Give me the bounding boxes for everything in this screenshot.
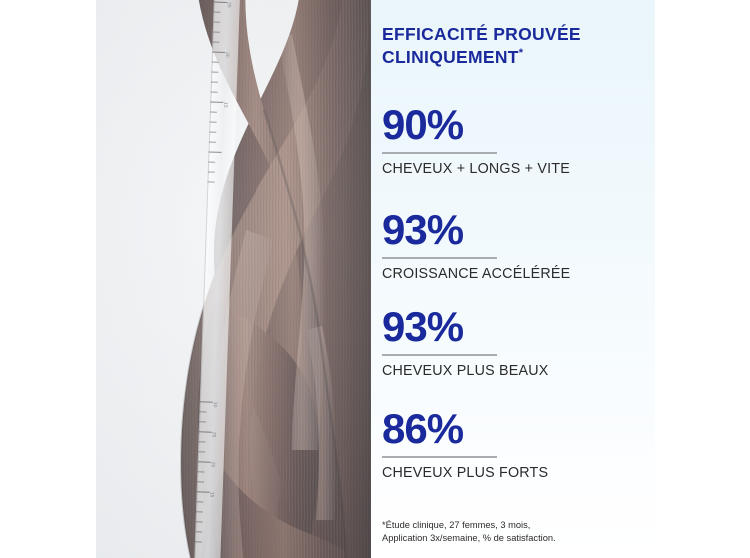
stat-block: 93% CROISSANCE ACCÉLÉRÉE — [382, 209, 632, 283]
stat-value: 93% — [382, 209, 632, 251]
stat-value: 90% — [382, 104, 632, 146]
stat-divider — [382, 257, 497, 259]
stat-block: 93% CHEVEUX PLUS BEAUX — [382, 306, 632, 380]
stat-label: CHEVEUX PLUS FORTS — [382, 465, 632, 482]
title-asterisk: * — [519, 47, 524, 59]
stat-block: 90% CHEVEUX + LONGS + VITE — [382, 104, 632, 178]
title-line-1: EFFICACITÉ PROUVÉE — [382, 24, 581, 44]
stat-value: 86% — [382, 408, 632, 450]
footnote-line-2: Application 3x/semaine, % de satisfactio… — [382, 532, 632, 545]
promo-graphic: 25 20 15 30 25 20 — [0, 0, 750, 558]
stat-divider — [382, 152, 497, 154]
stat-label: CHEVEUX + LONGS + VITE — [382, 161, 632, 178]
title-line-2: CLINIQUEMENT — [382, 47, 519, 67]
stat-block: 86% CHEVEUX PLUS FORTS — [382, 408, 632, 482]
stat-label: CROISSANCE ACCÉLÉRÉE — [382, 266, 632, 283]
hair-photo: 25 20 15 30 25 20 — [96, 0, 371, 558]
footnote-line-1: *Étude clinique, 27 femmes, 3 mois, — [382, 519, 632, 532]
footnote: *Étude clinique, 27 femmes, 3 mois, Appl… — [382, 519, 632, 545]
stat-divider — [382, 456, 497, 458]
stat-label: CHEVEUX PLUS BEAUX — [382, 363, 632, 380]
page-title: EFFICACITÉ PROUVÉE CLINIQUEMENT* — [382, 23, 632, 70]
stat-value: 93% — [382, 306, 632, 348]
stat-divider — [382, 354, 497, 356]
